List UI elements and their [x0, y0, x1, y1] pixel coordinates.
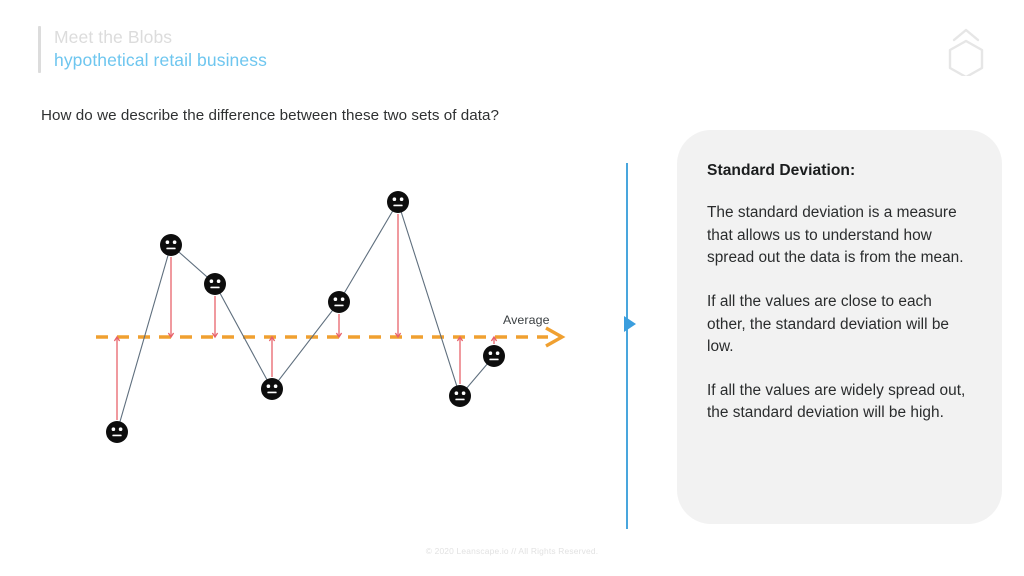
question-text: How do we describe the difference betwee…: [41, 107, 499, 124]
blob-face-icon: [160, 234, 182, 256]
deviation-stem: [336, 314, 341, 337]
chart-svg: [0, 0, 620, 576]
deviation-stem: [114, 337, 119, 420]
deviation-stem: [269, 337, 274, 377]
blob-face-icon: [204, 273, 226, 295]
blob-scatter-chart: [0, 0, 620, 576]
header-title: hypothetical retail business: [54, 49, 267, 72]
series-connector-line: [117, 202, 494, 432]
deviation-stem: [491, 337, 496, 344]
blob-face-icon: [483, 345, 505, 367]
deviation-stem: [395, 214, 400, 337]
blob-face-icon: [328, 291, 350, 313]
deviation-stem: [168, 257, 173, 337]
panel-paragraph: If all the values are widely spread out,…: [707, 380, 968, 425]
blob-face-icon: [261, 378, 283, 400]
deviation-stems: [114, 214, 496, 420]
play-triangle-icon: [624, 316, 636, 332]
hexagon-chevron-logo-icon: [944, 28, 988, 76]
header-accent-rule: [38, 26, 41, 73]
average-line: [96, 328, 562, 346]
panel-paragraph: If all the values are close to each othe…: [707, 291, 968, 359]
vertical-divider: [626, 163, 628, 529]
standard-deviation-panel: Standard Deviation: The standard deviati…: [677, 130, 1002, 524]
blob-face-icon: [106, 421, 128, 443]
blob-face-icon: [449, 385, 471, 407]
footer-copyright: © 2020 Leanscape.io // All Rights Reserv…: [0, 546, 1024, 556]
deviation-stem: [457, 337, 462, 384]
slide-header: Meet the Blobs hypothetical retail busin…: [38, 26, 267, 73]
panel-heading: Standard Deviation:: [707, 162, 968, 180]
deviation-stem: [212, 296, 217, 337]
blob-markers: [106, 191, 505, 443]
average-line-label: Average: [503, 313, 550, 327]
header-text-group: Meet the Blobs hypothetical retail busin…: [54, 26, 267, 73]
blob-face-icon: [387, 191, 409, 213]
header-kicker: Meet the Blobs: [54, 26, 267, 49]
panel-paragraph: The standard deviation is a measure that…: [707, 202, 968, 270]
